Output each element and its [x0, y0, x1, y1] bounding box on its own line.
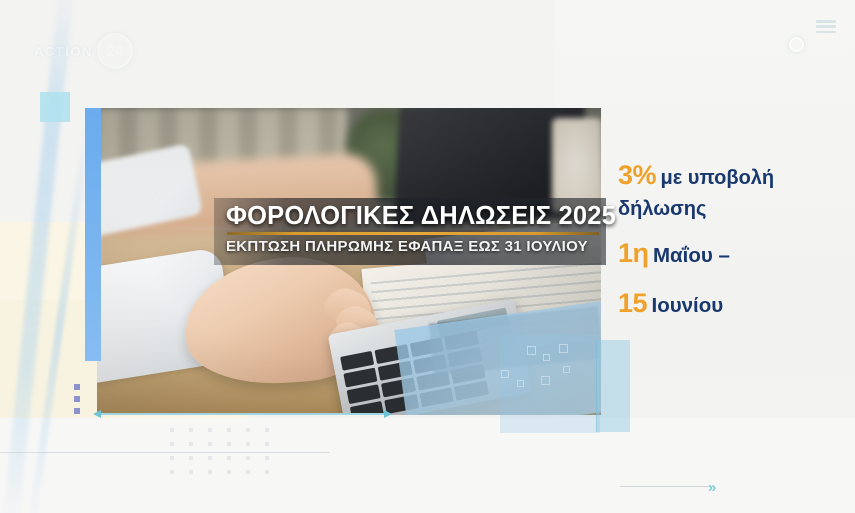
side-info-text-4: Ιουνίου: [652, 294, 724, 317]
blue-overlay-square: [596, 340, 630, 432]
banner-title: ΦΟΡΟΛΟΓΙΚΕΣ ΔΗΛΩΣΕΙΣ 2025: [226, 203, 596, 229]
hamburger-menu-icon[interactable]: [816, 20, 836, 33]
side-info-line-4: 15 Ιουνίου: [618, 286, 848, 322]
side-info-number-3: 1η: [618, 238, 649, 268]
side-info-number-4: 15: [618, 288, 647, 318]
double-chevron-icon: »: [708, 479, 714, 496]
double-headed-arrow-icon: [100, 413, 385, 415]
dot-column-decoration: [74, 384, 80, 420]
photo-blue-edge-accent: [85, 108, 101, 361]
background-hairline-right: [620, 486, 715, 487]
side-info-number-1: 3%: [618, 160, 656, 190]
dot-grid-decoration: [170, 428, 284, 484]
side-info-line-1: 3% με υποβολή: [618, 158, 848, 194]
channel-logo: ACTION 24: [34, 30, 144, 72]
blue-overlay-square-large: [500, 335, 600, 433]
side-info-text-2: δήλωσης: [618, 198, 706, 220]
side-info-text-3: Μαΐου –: [653, 244, 730, 267]
channel-logo-number: 24: [97, 33, 133, 69]
channel-logo-word: ACTION: [34, 44, 93, 59]
lower-third-banner: ΦΟΡΟΛΟΓΙΚΕΣ ΔΗΛΩΣΕΙΣ 2025 ΕΚΠΤΩΣΗ ΠΛΗΡΩΜ…: [214, 198, 606, 265]
banner-subtitle: ΕΚΠΤΩΣΗ ΠΛΗΡΩΜΗΣ ΕΦΑΠΑΞ ΕΩΣ 31 ΙΟΥΛΙΟΥ: [226, 238, 596, 255]
side-info-text-1: με υποβολή: [660, 167, 774, 189]
ring-badge-icon: [789, 37, 804, 52]
background-bottom-band: [0, 418, 855, 513]
side-info-line-3: 1η Μαΐου –: [618, 236, 848, 272]
side-info-line-2: δήλωσης: [618, 196, 848, 222]
banner-accent-rule: [227, 232, 599, 235]
broadcast-screen: » ΦΟΡΟΛΟΓΙΚΕΣ ΔΗΛΩΣΕΙΣ 2025 ΕΚΠΤΩΣΗ ΠΛΗΡ…: [0, 0, 855, 513]
cyan-square-decoration: [40, 92, 70, 122]
side-info-block: 3% με υποβολή δήλωσης 1η Μαΐου – 15 Ιουν…: [618, 158, 848, 323]
